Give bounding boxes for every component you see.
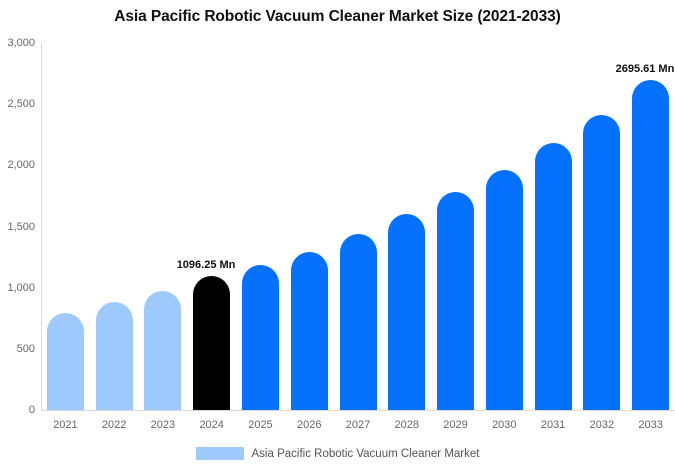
x-axis-tick-label-2031: 2031 [529, 419, 578, 431]
bar-2030[interactable] [486, 170, 523, 410]
bar-2032[interactable] [583, 115, 620, 410]
x-axis-tick-label-2028: 2028 [382, 419, 431, 431]
y-axis-tick-label: 2,000 [0, 159, 35, 171]
y-axis-tick-label: 3,000 [0, 37, 35, 49]
y-axis-tick-label: 500 [0, 343, 35, 355]
bar-2025[interactable] [242, 265, 279, 410]
bar-2022[interactable] [96, 302, 133, 410]
bar-2023[interactable] [144, 291, 181, 410]
bar-2028[interactable] [388, 214, 425, 410]
x-axis-tick-label-2025: 2025 [236, 419, 285, 431]
bar-2029[interactable] [437, 192, 474, 410]
chart-legend: Asia Pacific Robotic Vacuum Cleaner Mark… [0, 447, 675, 460]
y-axis-tick-label: 0 [0, 404, 35, 416]
y-axis-tick-label: 1,000 [0, 282, 35, 294]
x-axis-tick-label-2029: 2029 [431, 419, 480, 431]
bar-2024[interactable] [193, 276, 230, 410]
chart-title: Asia Pacific Robotic Vacuum Cleaner Mark… [0, 8, 675, 26]
bar-2033[interactable] [632, 80, 669, 410]
value-label-2033: 2695.61 Mn [616, 63, 675, 75]
x-axis-tick-label-2033: 2033 [626, 419, 675, 431]
y-axis-tick-label: 2,500 [0, 98, 35, 110]
x-axis-tick-label-2030: 2030 [480, 419, 529, 431]
x-axis-tick-label-2032: 2032 [577, 419, 626, 431]
x-axis-tick-label-2021: 2021 [41, 419, 90, 431]
y-axis-tick-label: 1,500 [0, 221, 35, 233]
bar-2026[interactable] [291, 252, 328, 410]
x-axis-tick-label-2023: 2023 [139, 419, 188, 431]
x-axis-tick-label-2027: 2027 [334, 419, 383, 431]
x-axis-line [41, 410, 675, 411]
bar-2027[interactable] [340, 234, 377, 410]
x-axis-tick-label-2022: 2022 [90, 419, 139, 431]
bar-2021[interactable] [47, 313, 84, 410]
bar-2031[interactable] [535, 143, 572, 410]
x-axis-tick-label-2024: 2024 [187, 419, 236, 431]
legend-label: Asia Pacific Robotic Vacuum Cleaner Mark… [252, 448, 480, 460]
legend-swatch-icon [196, 447, 244, 460]
value-label-2024: 1096.25 Mn [177, 259, 236, 271]
chart-container: Asia Pacific Robotic Vacuum Cleaner Mark… [0, 0, 675, 469]
x-axis-tick-label-2026: 2026 [285, 419, 334, 431]
